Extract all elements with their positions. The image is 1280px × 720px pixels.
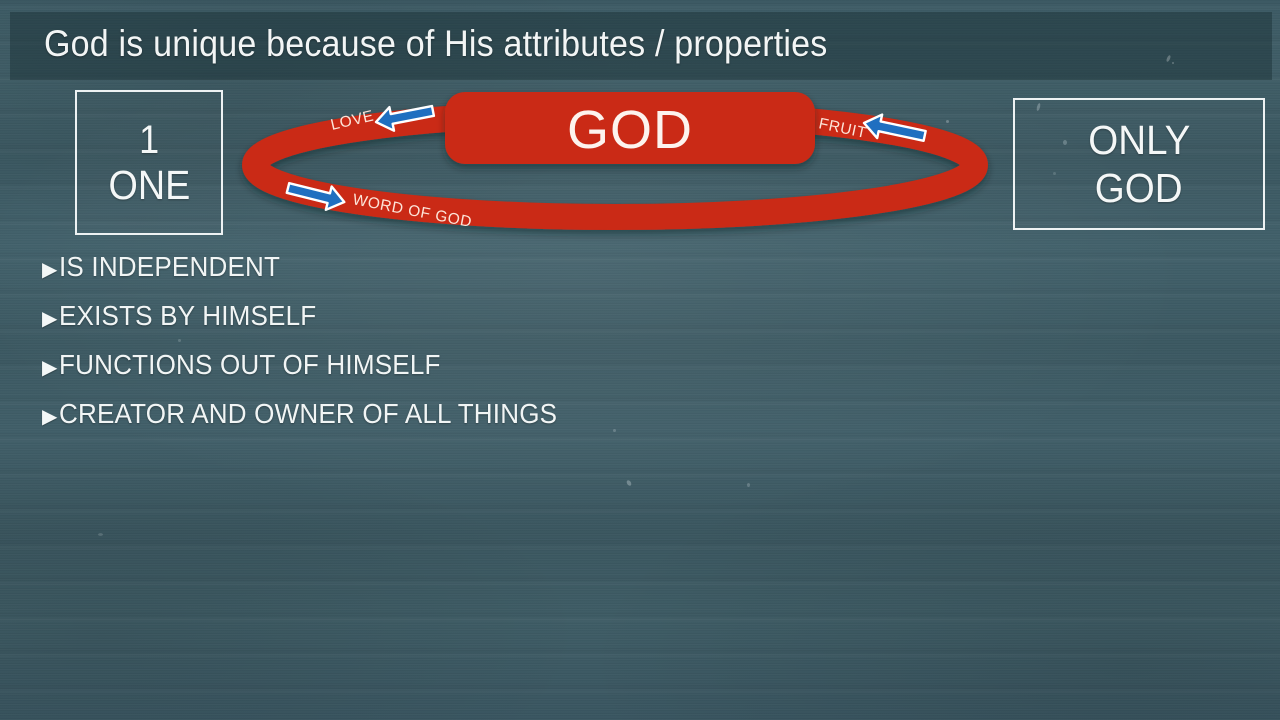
- callout-box-one-line1: 1: [139, 118, 159, 162]
- callout-box-only-god-line1: ONLY: [1088, 116, 1190, 164]
- slide-canvas: God is unique because of His attributes …: [0, 0, 1280, 720]
- triangle-bullet-icon: ▶: [42, 358, 57, 378]
- list-item-label: EXISTS BY HIMSELF: [59, 299, 316, 333]
- god-cycle-diagram: LOVE WORD OF GOD FRUIT GOD: [230, 80, 1020, 240]
- triangle-bullet-icon: ▶: [42, 309, 57, 329]
- list-item-label: IS INDEPENDENT: [59, 250, 280, 284]
- callout-box-one: 1 ONE: [75, 90, 223, 235]
- list-item-label: CREATOR AND OWNER OF ALL THINGS: [59, 397, 557, 431]
- list-item-label: FUNCTIONS OUT OF HIMSELF: [59, 348, 441, 382]
- attributes-bullet-list: ▶ IS INDEPENDENT ▶ EXISTS BY HIMSELF ▶ F…: [42, 250, 742, 446]
- callout-box-only-god-line2: GOD: [1095, 164, 1183, 212]
- triangle-bullet-icon: ▶: [42, 407, 57, 427]
- list-item: ▶ EXISTS BY HIMSELF: [42, 299, 742, 348]
- god-center-label: GOD: [567, 100, 693, 160]
- callout-box-one-line2: ONE: [108, 162, 190, 208]
- page-title: God is unique because of His attributes …: [44, 22, 827, 66]
- list-item: ▶ IS INDEPENDENT: [42, 250, 742, 299]
- callout-box-only-god: ONLY GOD: [1013, 98, 1265, 230]
- triangle-bullet-icon: ▶: [42, 260, 57, 280]
- list-item: ▶ CREATOR AND OWNER OF ALL THINGS: [42, 397, 742, 446]
- list-item: ▶ FUNCTIONS OUT OF HIMSELF: [42, 348, 742, 397]
